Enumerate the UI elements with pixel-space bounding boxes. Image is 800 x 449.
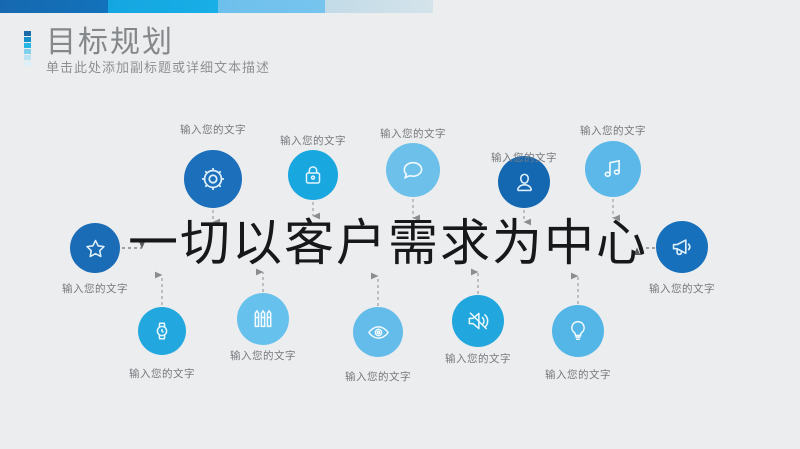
music-icon[interactable] (585, 141, 641, 197)
node-label: 输入您的文字 (445, 351, 511, 366)
node-label: 输入您的文字 (180, 122, 246, 137)
node-label: 输入您的文字 (62, 281, 128, 296)
node-label: 输入您的文字 (280, 133, 346, 148)
pens-icon[interactable] (237, 293, 289, 345)
megaphone-icon[interactable] (656, 221, 708, 273)
node-label: 输入您的文字 (491, 150, 557, 165)
slide-canvas: 目标规划 单击此处添加副标题或详细文本描述 (0, 0, 800, 449)
gear-icon[interactable] (184, 150, 242, 208)
node-label: 输入您的文字 (545, 367, 611, 382)
node-label: 输入您的文字 (380, 126, 446, 141)
chat-icon[interactable] (386, 143, 440, 197)
node-label: 输入您的文字 (649, 281, 715, 296)
node-label: 输入您的文字 (345, 369, 411, 384)
headline-text: 一切以客户需求为中心 (128, 214, 648, 272)
watch-icon[interactable] (138, 307, 186, 355)
node-label: 输入您的文字 (230, 348, 296, 363)
node-label: 输入您的文字 (580, 123, 646, 138)
node-label: 输入您的文字 (129, 366, 195, 381)
bulb-icon[interactable] (552, 305, 604, 357)
star-icon[interactable] (70, 223, 120, 273)
lock-icon[interactable] (288, 150, 338, 200)
mute-icon[interactable] (452, 295, 504, 347)
eye-icon[interactable] (353, 307, 403, 357)
